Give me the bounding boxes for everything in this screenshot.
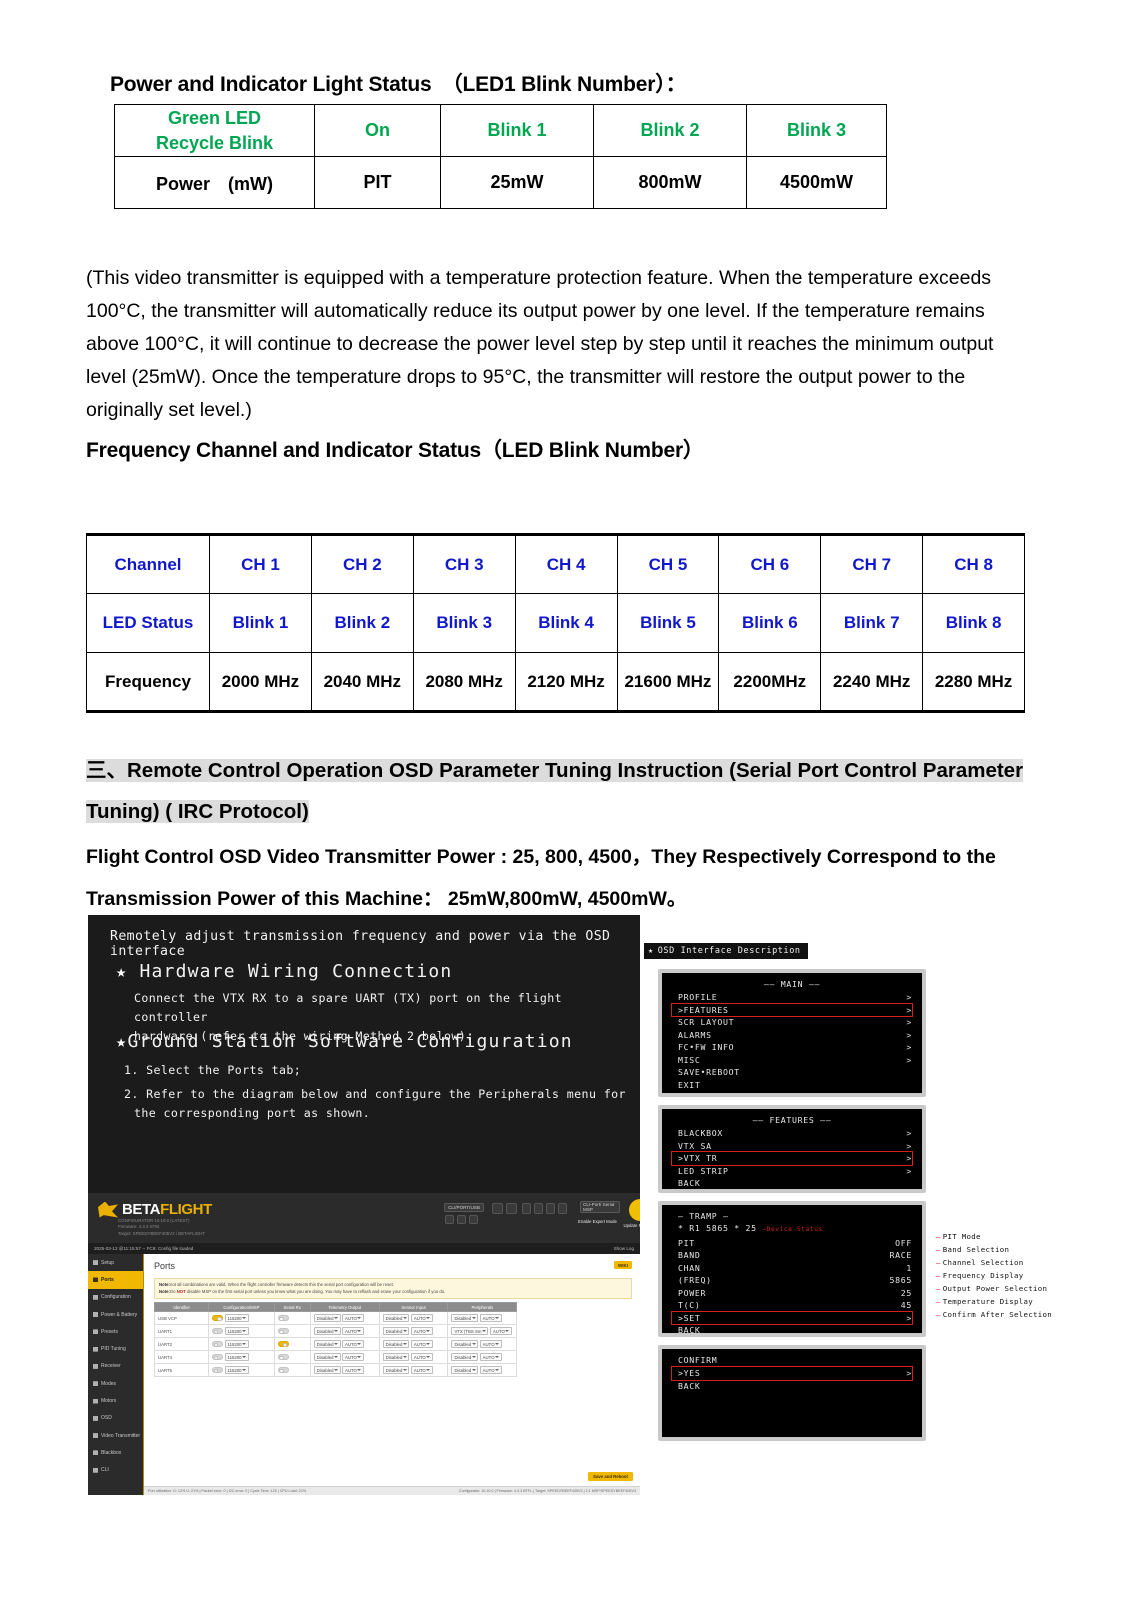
annotation-temperature-display: Temperature Display [936, 1297, 1033, 1306]
cell-800mw: 800mW [594, 157, 747, 209]
sidebar-item-blackbox[interactable]: Blackbox [88, 1444, 143, 1461]
port-selector[interactable]: CLI/PORT/USB [444, 1203, 484, 1212]
betaflight-sidebar: Setup Ports Configuration Power & Batter… [88, 1254, 144, 1495]
osd-item-fc-fw-info[interactable]: FC•FW INFO> [672, 1041, 912, 1054]
cell-blink-2: Blink 2 [311, 594, 413, 653]
osd-item-label: VTX SA [678, 1140, 712, 1153]
msp-baud-select[interactable]: 115200 [225, 1327, 249, 1335]
chevron-right-icon: > [906, 1016, 912, 1029]
antenna-icon [93, 1364, 98, 1369]
column-serial-rx: Serial Rx [274, 1303, 310, 1312]
edit-icon[interactable] [469, 1215, 478, 1224]
osd-device-status-annotation: —Device Status [762, 1226, 822, 1233]
star-icon: ★ [648, 946, 654, 956]
osd-item-label: >VTX TR [678, 1152, 717, 1165]
betaflight-header: BETAFLIGHT CONFIGURATOR 10.10.0 (LATEST)… [88, 1193, 640, 1243]
cell-telemetry: DisabledAUTO [310, 1325, 379, 1338]
osd-item-label: >SET [678, 1312, 701, 1325]
osd-section-heading: 三、Remote Control Operation OSD Parameter… [86, 750, 1046, 832]
betaflight-status-bar: 2025-03-12 @11:15:57 -- FC9: Config file… [88, 1243, 640, 1254]
cell-identifier: UART2 [155, 1338, 209, 1351]
cell-power-label: Power (mW) [115, 157, 315, 209]
cell-sensor: DisabledAUTO [379, 1338, 448, 1351]
osd-item-alarms[interactable]: ALARMS> [672, 1029, 912, 1042]
table-row-led-status: LED Status Blink 1 Blink 2 Blink 3 Blink… [87, 594, 1025, 653]
osd-item-value: 25 [901, 1287, 912, 1300]
sidebar-item-configuration[interactable]: Configuration [88, 1289, 143, 1306]
osd-item-label: PIT [678, 1237, 695, 1250]
ports-table-header-row: Identifier Configuration/MSP Serial Rx T… [155, 1303, 517, 1312]
telemetry-baud-select[interactable]: AUTO [342, 1366, 364, 1374]
cell-blink-7: Blink 7 [821, 594, 923, 653]
document-page: Power and Indicator Light Status （LED1 B… [0, 0, 1131, 1600]
table-row: UART4 115200 DisabledAUTO DisabledAUTO D… [155, 1351, 517, 1364]
osd-item-value: 1 [906, 1262, 912, 1275]
sensor-baud-select[interactable]: AUTO [411, 1327, 433, 1335]
sidebar-label: OSD [101, 1415, 112, 1421]
note-prefix-2: Note: [159, 1289, 170, 1294]
osd-item-back[interactable]: BACK [672, 1177, 912, 1190]
cell-blink-4: Blink 4 [515, 594, 617, 653]
sensor-baud-select[interactable]: AUTO [411, 1366, 433, 1374]
cell-ch-1: CH 1 [210, 535, 312, 594]
cell-ch-3: CH 3 [413, 535, 515, 594]
osd-item-vtx-tr[interactable]: >VTX TR> [672, 1152, 912, 1165]
step-1: 1. Select the Ports tab; [124, 1061, 301, 1080]
osd-item-label: FC•FW INFO [678, 1041, 734, 1054]
table-row: Power (mW) PIT 25mW 800mW 4500mW [115, 157, 887, 209]
osd-heading-line-2: Tuning) ( IRC Protocol) [86, 800, 309, 823]
osd-power-mapping-paragraph: Flight Control OSD Video Transmitter Pow… [86, 836, 1046, 920]
sensor-select[interactable]: Disabled [383, 1353, 410, 1361]
osd-item-value: RACE [889, 1249, 912, 1262]
ground-station-title: Ground Station Software Configuration [127, 1031, 572, 1052]
cell-identifier: UART5 [155, 1364, 209, 1377]
serial-rx-toggle[interactable] [278, 1354, 289, 1360]
cell-ch-5: CH 5 [617, 535, 719, 594]
osd-item-label: CHAN [678, 1262, 701, 1275]
arm-icon[interactable] [457, 1215, 466, 1224]
expert-mode-label: CLI-Port/ Serial MSP [580, 1201, 620, 1213]
cell-ch-4: CH 4 [515, 535, 617, 594]
telemetry-select[interactable]: Disabled [314, 1327, 341, 1335]
sensor-mag-icon[interactable] [522, 1203, 531, 1214]
osd-bold-line-1: Flight Control OSD Video Transmitter Pow… [86, 846, 996, 868]
sidebar-item-video-transmitter[interactable]: Video Transmitter [88, 1427, 143, 1444]
osd-tramp-status-text: * R1 5865 * 25 [678, 1223, 757, 1233]
chevron-right-icon: > [906, 1165, 912, 1178]
serial-rx-toggle[interactable] [278, 1367, 289, 1373]
note-text-2: disable MSP on the first serial port unl… [187, 1289, 445, 1294]
cell-serial-rx [274, 1351, 310, 1364]
telemetry-select[interactable]: Disabled [314, 1314, 341, 1322]
sidebar-label: PID Tuning [101, 1346, 126, 1352]
msp-toggle[interactable] [212, 1315, 223, 1321]
peripheral-select[interactable]: Disabled [451, 1366, 478, 1374]
osd-item-label: >FEATURES [678, 1004, 729, 1017]
telemetry-select[interactable]: Disabled [314, 1353, 341, 1361]
peripheral-baud-select[interactable]: AUTO [480, 1366, 502, 1374]
cell-msp: 115200 [209, 1364, 274, 1377]
sidebar-label: Ports [101, 1277, 114, 1283]
peripheral-select[interactable]: Disabled [451, 1353, 478, 1361]
msp-toggle[interactable] [212, 1367, 223, 1373]
osd-item-band[interactable]: BANDRACE [672, 1249, 912, 1262]
osd-item-back[interactable]: BACK [672, 1380, 912, 1393]
cell-msp: 115200 [209, 1351, 274, 1364]
cell-pit: PIT [315, 157, 441, 209]
table-row: Green LED Recycle Blink On Blink 1 Blink… [115, 105, 887, 157]
betaflight-version-info: CONFIGURATOR 10.10.0 (LATEST) Firmware: … [118, 1218, 205, 1237]
osd-item-features[interactable]: >FEATURES> [672, 1004, 912, 1017]
chevron-right-icon: > [906, 1312, 912, 1325]
column-telemetry-output: Telemetry Output [310, 1303, 379, 1312]
chevron-right-icon: > [906, 1054, 912, 1067]
osd-item-label: >YES [678, 1367, 701, 1380]
update-firmware-button[interactable] [629, 1199, 640, 1221]
osd-item-exit[interactable]: EXIT [672, 1079, 912, 1092]
table-row-channel: Channel CH 1 CH 2 CH 3 CH 4 CH 5 CH 6 CH… [87, 535, 1025, 594]
sidebar-item-power-battery[interactable]: Power & Battery [88, 1306, 143, 1323]
blackbox-icon [93, 1450, 98, 1455]
page-title: Ports [154, 1261, 175, 1271]
sidebar-label: Motors [101, 1398, 116, 1404]
cell-freq-3: 2080 MHz [413, 653, 515, 712]
table-row: UART2 115200 DisabledAUTO DisabledAUTO D… [155, 1338, 517, 1351]
battery-icon [93, 1312, 98, 1317]
instruction-intro: Remotely adjust transmission frequency a… [110, 929, 640, 959]
cell-blink-6: Blink 6 [719, 594, 821, 653]
sidebar-item-motors[interactable]: Motors [88, 1392, 143, 1409]
cell-sensor: DisabledAUTO [379, 1364, 448, 1377]
cell-peripheral: DisabledAUTO [448, 1351, 517, 1364]
cell-serial-rx [274, 1338, 310, 1351]
sensor-baud-select[interactable]: AUTO [411, 1314, 433, 1322]
sidebar-label: Video Transmitter [101, 1433, 140, 1439]
annotation-band-selection: Band Selection [936, 1245, 1009, 1254]
osd-screen-confirm: CONFIRM >YES> BACK [658, 1345, 926, 1441]
osd-item-value: 5865 [889, 1274, 912, 1287]
note-do: Do [170, 1289, 176, 1294]
osd-item-label: MISC [678, 1054, 701, 1067]
osd-item-blackbox[interactable]: BLACKBOX> [672, 1127, 912, 1140]
note-line-2: Note:Do NOT disable MSP on the first ser… [159, 1289, 627, 1296]
sidebar-item-osd[interactable]: OSD [88, 1410, 143, 1427]
modes-icon [93, 1381, 98, 1386]
betaflight-footer: Port utilization: D: 12% U: 21% | Packet… [144, 1486, 640, 1495]
osd-interface-description-panel: ★ OSD Interface Description —— MAIN —— P… [640, 937, 1036, 1461]
footer-version: Configurator: 10.10.0 | Firmware: 4.4.3 … [459, 1489, 636, 1493]
osd-item-label: BACK [678, 1324, 701, 1337]
telemetry-baud-select[interactable]: AUTO [342, 1340, 364, 1348]
column-peripherals: Peripherals [448, 1303, 517, 1312]
cell-sensor: DisabledAUTO [379, 1312, 448, 1325]
cell-peripheral: DisabledAUTO [448, 1338, 517, 1351]
frequency-section-heading: Frequency Channel and Indicator Status（L… [86, 434, 704, 464]
sidebar-label: Presets [101, 1329, 118, 1335]
osd-features-title: —— FEATURES —— [672, 1114, 912, 1127]
betaflight-logo: BETAFLIGHT [98, 1201, 212, 1218]
cell-blink-8: Blink 8 [923, 594, 1025, 653]
sensor-baud-select[interactable]: AUTO [411, 1340, 433, 1348]
peripheral-baud-select[interactable]: AUTO [490, 1327, 512, 1335]
cell-frequency-label: Frequency [87, 653, 210, 712]
step-2-line2: the corresponding port as shown. [134, 1104, 626, 1123]
cell-ch-8: CH 8 [923, 535, 1025, 594]
osd-screen-tramp: — TRAMP — * R1 5865 * 25 —Device Status … [658, 1201, 926, 1337]
peripheral-select[interactable]: VTX (TBS Sm [451, 1327, 488, 1335]
cell-freq-7: 2240 MHz [821, 653, 923, 712]
note-text-1: not all combinations are valid. When the… [170, 1282, 394, 1287]
osd-item-freq[interactable]: (FREQ)5865 [672, 1274, 912, 1287]
chevron-right-icon: > [906, 1367, 912, 1380]
peripheral-baud-select[interactable]: AUTO [480, 1340, 502, 1348]
table-row: UART5 115200 DisabledAUTO DisabledAUTO D… [155, 1364, 517, 1377]
serial-rx-toggle[interactable] [278, 1341, 289, 1347]
msp-baud-select[interactable]: 115200 [225, 1314, 249, 1322]
osd-item-label: BLACKBOX [678, 1127, 723, 1140]
sidebar-label: Power & Battery [101, 1312, 137, 1318]
sidebar-item-modes[interactable]: Modes [88, 1375, 143, 1392]
osd-item-label: T(C) [678, 1299, 701, 1312]
cell-peripheral: DisabledAUTO [448, 1312, 517, 1325]
note-line-1: Note:not all combinations are valid. Whe… [159, 1282, 627, 1289]
osd-item-yes[interactable]: >YES> [672, 1367, 912, 1380]
msp-baud-select[interactable]: 115200 [225, 1340, 249, 1348]
peripheral-select[interactable]: Disabled [451, 1314, 478, 1322]
osd-screen-main: —— MAIN —— PROFILE> >FEATURES> SCR LAYOU… [658, 969, 926, 1097]
sidebar-item-pid-tuning[interactable]: PID Tuning [88, 1340, 143, 1357]
msp-toggle[interactable] [212, 1328, 223, 1334]
cell-on: On [315, 105, 441, 157]
footer-stats: Port utilization: D: 12% U: 21% | Packet… [148, 1489, 306, 1493]
chevron-right-icon: > [906, 1004, 912, 1017]
serial-rx-toggle[interactable] [278, 1315, 289, 1321]
show-log-link[interactable]: Show Log [614, 1246, 634, 1251]
cell-peripheral: VTX (TBS SmAUTO [448, 1325, 517, 1338]
telemetry-baud-select[interactable]: AUTO [342, 1314, 364, 1322]
cell-msp: 115200 [209, 1312, 274, 1325]
annotation-pit-mode: PIT Mode [936, 1232, 981, 1241]
chevron-right-icon: > [906, 1152, 912, 1165]
status-bar-message: 2025-03-12 @11:15:57 -- FC9: Config file… [94, 1246, 193, 1251]
warning-icon[interactable] [445, 1215, 454, 1224]
osd-panel-title: ★ OSD Interface Description [644, 943, 808, 959]
osd-item-value: OFF [895, 1237, 912, 1250]
wrench-icon [93, 1260, 98, 1265]
cell-sensor: DisabledAUTO [379, 1351, 448, 1364]
osd-item-label: EXIT [678, 1079, 701, 1092]
sidebar-label: Receiver [101, 1363, 121, 1369]
peripheral-baud-select[interactable]: AUTO [480, 1353, 502, 1361]
cell-identifier: UART1 [155, 1325, 209, 1338]
sensor-sonar-icon[interactable] [558, 1203, 567, 1214]
sidebar-item-receiver[interactable]: Receiver [88, 1358, 143, 1375]
sensor-baud-select[interactable]: AUTO [411, 1353, 433, 1361]
cell-green-led-recycle-blink: Green LED Recycle Blink [115, 105, 315, 157]
osd-item-label: (FREQ) [678, 1274, 712, 1287]
osd-item-pit[interactable]: PITOFF [672, 1237, 912, 1250]
cell-freq-2: 2040 MHz [311, 653, 413, 712]
green-led-label-line2: Recycle Blink [116, 131, 313, 155]
power-section-heading: Power and Indicator Light Status （LED1 B… [110, 68, 686, 98]
sidebar-item-cli[interactable]: CLI [88, 1462, 143, 1479]
sliders-icon [93, 1347, 98, 1352]
cell-serial-rx [274, 1325, 310, 1338]
telemetry-select[interactable]: Disabled [314, 1340, 341, 1348]
frequency-channel-table: Channel CH 1 CH 2 CH 3 CH 4 CH 5 CH 6 CH… [86, 533, 1025, 713]
column-identifier: Identifier [155, 1303, 209, 1312]
serial-rx-toggle[interactable] [278, 1328, 289, 1334]
cell-telemetry: DisabledAUTO [310, 1351, 379, 1364]
ports-table: Identifier Configuration/MSP Serial Rx T… [154, 1302, 517, 1377]
cell-channel-label: Channel [87, 535, 210, 594]
wiki-button[interactable]: WIKI [614, 1261, 632, 1269]
sidebar-label: Modes [101, 1381, 116, 1387]
table-row: UART1 115200 DisabledAUTO DisabledAUTO V… [155, 1325, 517, 1338]
osd-item-temperature[interactable]: T(C)45 [672, 1299, 912, 1312]
hardware-wiring-body-line1: Connect the VTX RX to a spare UART (TX) … [134, 989, 640, 1027]
logo-beta: BETA [122, 1201, 160, 1218]
cell-sensor: DisabledAUTO [379, 1325, 448, 1338]
sensor-gyro-icon[interactable] [492, 1203, 503, 1214]
betaflight-bird-icon [98, 1202, 118, 1218]
table-row-frequency: Frequency 2000 MHz 2040 MHz 2080 MHz 212… [87, 653, 1025, 712]
osd-bold-line-2: Transmission Power of this Machine： 25mW… [86, 888, 686, 910]
peripheral-select[interactable]: Disabled [451, 1340, 478, 1348]
osd-instruction-figure: Remotely adjust transmission frequency a… [88, 915, 1036, 1495]
sidebar-label: CLI [101, 1467, 109, 1473]
msp-toggle[interactable] [212, 1354, 223, 1360]
osd-item-label: BAND [678, 1249, 701, 1262]
step-2: 2. Refer to the diagram below and config… [124, 1085, 626, 1123]
osd-item-label: LED STRIP [678, 1165, 729, 1178]
sidebar-label: Configuration [101, 1294, 131, 1300]
note-not: NOT [177, 1289, 186, 1294]
osd-item-label: SCR LAYOUT [678, 1016, 734, 1029]
chevron-right-icon: > [906, 991, 912, 1004]
cell-4500mw: 4500mW [747, 157, 887, 209]
cell-blink-5: Blink 5 [617, 594, 719, 653]
instruction-panel: Remotely adjust transmission frequency a… [88, 915, 640, 1193]
telemetry-baud-select[interactable]: AUTO [342, 1327, 364, 1335]
save-and-reboot-button[interactable]: Save and Reboot [588, 1472, 633, 1481]
cell-freq-5: 21600 MHz [617, 653, 719, 712]
msp-baud-select[interactable]: 115200 [225, 1366, 249, 1374]
msp-toggle[interactable] [212, 1341, 223, 1347]
star-icon: ★ [116, 1032, 127, 1052]
power-indicator-table: Green LED Recycle Blink On Blink 1 Blink… [114, 104, 887, 209]
cell-blink-3: Blink 3 [413, 594, 515, 653]
osd-panel-title-text: OSD Interface Description [658, 946, 801, 956]
annotation-output-power-selection: Output Power Selection [936, 1284, 1047, 1293]
annotation-channel-selection: Channel Selection [936, 1258, 1024, 1267]
osd-item-misc[interactable]: MISC> [672, 1054, 912, 1067]
presets-icon [93, 1329, 98, 1334]
hardware-wiring-heading: ★ Hardware Wiring Connection [116, 961, 452, 982]
chevron-right-icon: > [906, 1029, 912, 1042]
msp-baud-select[interactable]: 115200 [225, 1353, 249, 1361]
osd-item-label: PROFILE [678, 991, 717, 1004]
osd-item-vtx-sa[interactable]: VTX SA> [672, 1140, 912, 1153]
osd-item-back[interactable]: BACK [672, 1324, 912, 1337]
cell-freq-4: 2120 MHz [515, 653, 617, 712]
osd-tramp-status: * R1 5865 * 25 —Device Status [672, 1222, 912, 1237]
osd-confirm-title: CONFIRM [672, 1354, 912, 1367]
telemetry-select[interactable]: Disabled [314, 1366, 341, 1374]
cell-peripheral: DisabledAUTO [448, 1364, 517, 1377]
osd-item-value: 45 [901, 1299, 912, 1312]
sidebar-item-presets[interactable]: Presets [88, 1323, 143, 1340]
cell-serial-rx [274, 1312, 310, 1325]
ports-note: Note:not all combinations are valid. Whe… [154, 1278, 632, 1299]
gear-icon [93, 1295, 98, 1300]
osd-item-led-strip[interactable]: LED STRIP> [672, 1165, 912, 1178]
osd-icon [93, 1416, 98, 1421]
star-icon: ★ [116, 962, 127, 982]
osd-main-title: —— MAIN —— [672, 978, 912, 991]
cell-ch-7: CH 7 [821, 535, 923, 594]
osd-item-label: SAVE•REBOOT [678, 1066, 740, 1079]
sensor-select[interactable]: Disabled [383, 1327, 410, 1335]
cell-telemetry: DisabledAUTO [310, 1364, 379, 1377]
cell-blink-1: Blink 1 [441, 105, 594, 157]
cell-25mw: 25mW [441, 157, 594, 209]
sensor-accel-icon[interactable] [506, 1203, 517, 1214]
cell-led-status-label: LED Status [87, 594, 210, 653]
sidebar-label: Blackbox [101, 1450, 121, 1456]
cell-msp: 115200 [209, 1325, 274, 1338]
chevron-right-icon: > [906, 1041, 912, 1054]
telemetry-baud-select[interactable]: AUTO [342, 1353, 364, 1361]
column-configuration-msp: Configuration/MSP [209, 1303, 274, 1312]
expert-mode-toggle-label[interactable]: Enable Expert Mode [578, 1219, 626, 1224]
sensor-gps-icon[interactable] [546, 1203, 555, 1214]
osd-item-profile[interactable]: PROFILE> [672, 991, 912, 1004]
chevron-right-icon: > [906, 1140, 912, 1153]
osd-item-chan[interactable]: CHAN1 [672, 1262, 912, 1275]
cell-telemetry: DisabledAUTO [310, 1312, 379, 1325]
betaflight-content: Ports WIKI Note:not all combinations are… [144, 1254, 640, 1495]
plug-icon [93, 1277, 98, 1282]
version-line-3: Target: SPEEDYBEEF405V3 / BETAFLIGHT [118, 1231, 205, 1237]
propeller-icon [93, 1399, 98, 1404]
sidebar-item-setup[interactable]: Setup [88, 1254, 143, 1271]
sensor-select[interactable]: Disabled [383, 1314, 410, 1322]
osd-item-label: BACK [678, 1177, 701, 1190]
sensor-select[interactable]: Disabled [383, 1366, 410, 1374]
sensor-baro-icon[interactable] [534, 1203, 543, 1214]
peripheral-baud-select[interactable]: AUTO [480, 1314, 502, 1322]
cell-blink-1: Blink 1 [210, 594, 312, 653]
osd-item-set[interactable]: >SET> [672, 1312, 912, 1325]
sensor-select[interactable]: Disabled [383, 1340, 410, 1348]
betaflight-logo-text: BETAFLIGHT [122, 1201, 212, 1218]
osd-item-label: ALARMS [678, 1029, 712, 1042]
chevron-right-icon: > [906, 1127, 912, 1140]
logo-flight: FLIGHT [160, 1201, 212, 1218]
cell-msp: 115200 [209, 1338, 274, 1351]
osd-tramp-title: — TRAMP — [672, 1210, 912, 1222]
sidebar-item-ports[interactable]: Ports [88, 1271, 143, 1288]
osd-item-power[interactable]: POWER25 [672, 1287, 912, 1300]
osd-item-scr-layout[interactable]: SCR LAYOUT> [672, 1016, 912, 1029]
osd-item-save-reboot[interactable]: SAVE•REBOOT [672, 1066, 912, 1079]
sidebar-label: Setup [101, 1260, 114, 1266]
video-icon [93, 1433, 98, 1438]
annotation-frequency-display: Frequency Display [936, 1271, 1024, 1280]
osd-item-label: POWER [678, 1287, 706, 1300]
